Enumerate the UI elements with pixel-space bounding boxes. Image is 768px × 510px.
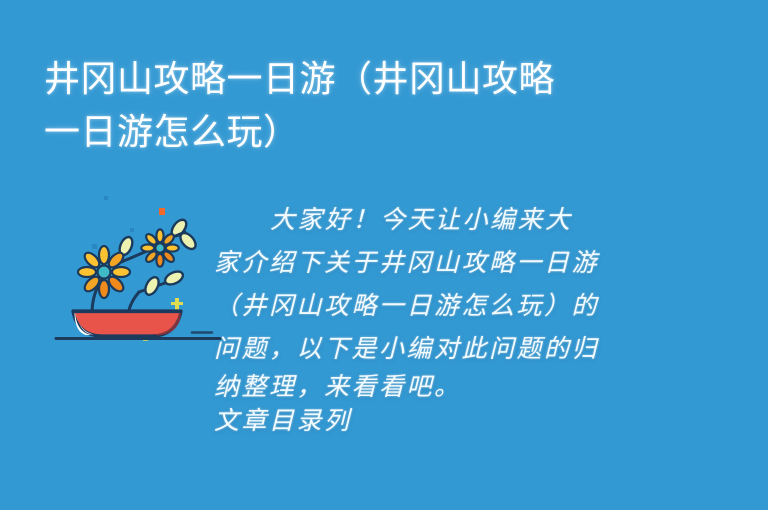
flower-large: [78, 246, 130, 298]
sparkle-yellow-star: [171, 298, 183, 310]
article-cover-page: 井冈山攻略一日游（井冈山攻略 一日游怎么玩）: [0, 0, 768, 510]
petal: [99, 280, 109, 298]
page-title-line-1: 井冈山攻略一日游（井冈山攻略: [44, 52, 684, 105]
petal: [156, 229, 163, 242]
petal: [112, 267, 130, 277]
sparkle-blue-dot-c: [92, 244, 97, 249]
potted-flowers-illustration: [42, 186, 234, 370]
flower-small: [141, 229, 178, 266]
petal: [78, 267, 96, 277]
page-title: 井冈山攻略一日游（井冈山攻略 一日游怎么玩）: [44, 52, 684, 158]
petal: [99, 246, 109, 264]
leaf-lower-b: [163, 269, 185, 287]
flower-center: [155, 243, 164, 252]
petal: [156, 254, 163, 267]
sparkle-blue-dot-b: [130, 228, 134, 232]
body-line-3: （井冈山攻略一日游怎么玩）的: [214, 284, 674, 327]
flower-center: [98, 266, 111, 279]
sparkle-blue-dot-a: [104, 196, 108, 200]
sparkle-orange-dot: [159, 208, 165, 215]
body-line-4: 问题，以下是小编对此问题的归: [214, 327, 674, 370]
flower-bowl: [73, 311, 181, 336]
petal: [166, 244, 179, 251]
article-intro-text: 大家好！今天让小编来大 家介绍下关于井冈山攻略一日游 （井冈山攻略一日游怎么玩）…: [214, 198, 674, 438]
petal: [141, 244, 154, 251]
body-line-2: 家介绍下关于井冈山攻略一日游: [214, 241, 674, 284]
toc-heading: 文章目录列: [214, 404, 674, 438]
body-line-1: 大家好！今天让小编来大: [214, 198, 674, 241]
page-title-line-2: 一日游怎么玩）: [44, 105, 684, 158]
body-line-5: 纳整理，来看看吧。: [214, 370, 674, 404]
leaf-lower-a: [143, 275, 162, 297]
